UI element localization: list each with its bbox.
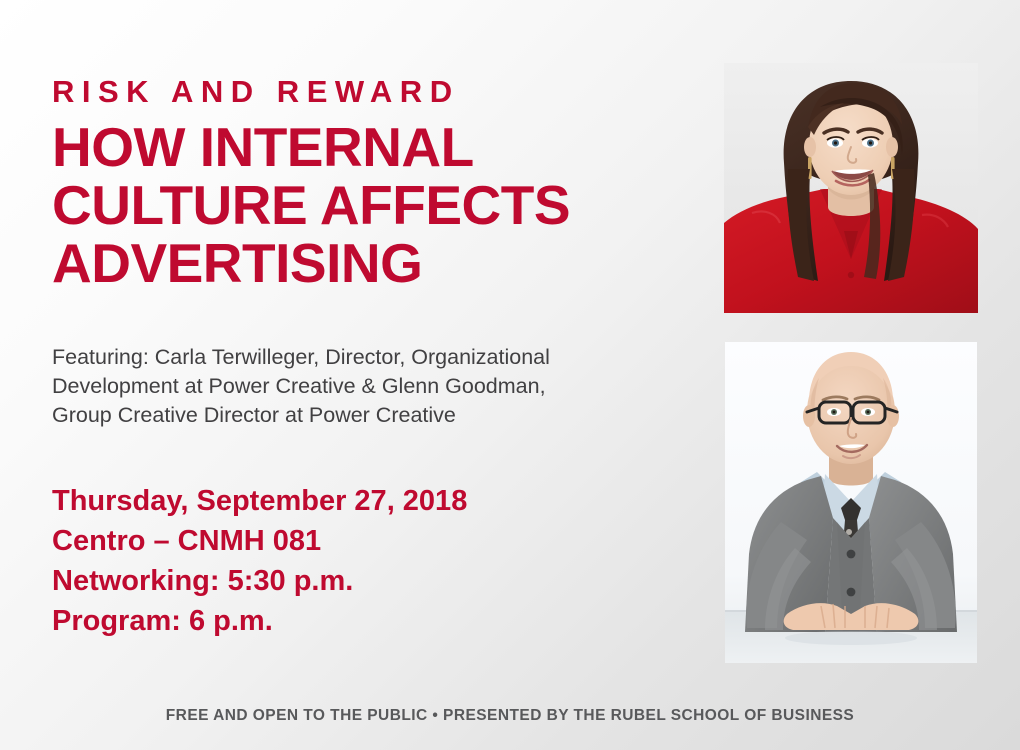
eyebrow-text: RISK AND REWARD (52, 76, 460, 107)
event-details: Thursday, September 27, 2018 Centro – CN… (52, 481, 467, 641)
event-date: Thursday, September 27, 2018 (52, 481, 467, 521)
footer-text: FREE AND OPEN TO THE PUBLIC • PRESENTED … (0, 707, 1020, 725)
event-program-time: Program: 6 p.m. (52, 601, 467, 641)
featuring-line-1: Featuring: Carla Terwilleger, Director, … (52, 343, 724, 372)
glenn-goodman-headshot (725, 342, 977, 663)
glenn-headshot-illustration (725, 342, 977, 663)
featuring-line-2: Development at Power Creative & Glenn Go… (52, 372, 724, 401)
event-networking-time: Networking: 5:30 p.m. (52, 561, 467, 601)
text-column: RISK AND REWARD HOW INTERNAL CULTURE AFF… (52, 0, 717, 750)
page-title: HOW INTERNAL CULTURE AFFECTS ADVERTISING (52, 118, 712, 292)
headline-line-3: ADVERTISING (52, 234, 712, 292)
featuring-description: Featuring: Carla Terwilleger, Director, … (52, 343, 724, 430)
headline-line-1: HOW INTERNAL (52, 118, 712, 176)
carla-terwilleger-headshot (724, 63, 978, 313)
headline-line-2: CULTURE AFFECTS (52, 176, 712, 234)
event-flyer: RISK AND REWARD HOW INTERNAL CULTURE AFF… (0, 0, 1020, 750)
event-location: Centro – CNMH 081 (52, 521, 467, 561)
carla-headshot-illustration (724, 63, 978, 313)
featuring-line-3: Group Creative Director at Power Creativ… (52, 401, 724, 430)
